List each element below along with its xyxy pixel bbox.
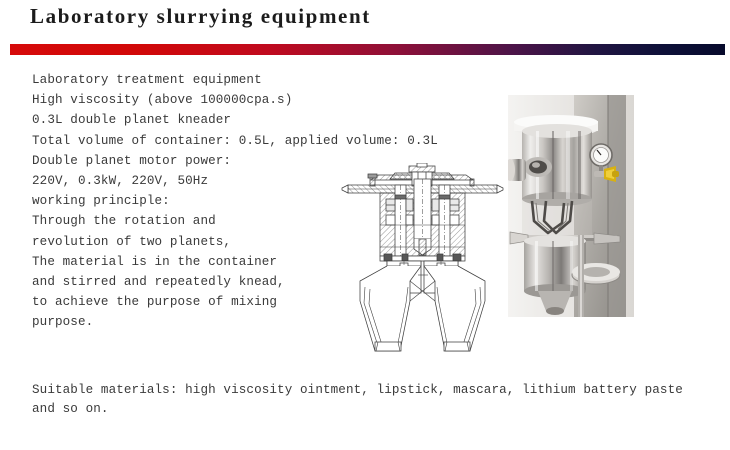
- spec-line: purpose.: [32, 312, 332, 332]
- product-photo: [508, 95, 634, 317]
- spec-line: to achieve the purpose of mixing: [32, 292, 332, 312]
- spec-line: working principle:: [32, 191, 332, 211]
- footer-line: Suitable materials: high viscosity ointm…: [32, 381, 702, 400]
- specification-text-block: Laboratory treatment equipment High visc…: [32, 70, 332, 333]
- spec-line: High viscosity (above 100000cpa.s): [32, 90, 332, 110]
- spec-line: 0.3L double planet kneader: [32, 110, 332, 130]
- slide-page: Laboratory slurrying equipment Laborator…: [0, 0, 730, 450]
- spec-line: and stirred and repeatedly knead,: [32, 272, 332, 292]
- slurrying-machine-photo-illustration: [508, 95, 634, 317]
- spec-line: 220V, 0.3kW, 220V, 50Hz: [32, 171, 332, 191]
- gradient-divider: [10, 44, 725, 55]
- spec-line: revolution of two planets,: [32, 232, 332, 252]
- double-planetary-kneader-drawing-icon: [340, 163, 505, 368]
- page-title: Laboratory slurrying equipment: [30, 4, 371, 29]
- spec-line: The material is in the container: [32, 252, 332, 272]
- suitable-materials-text-block: Suitable materials: high viscosity ointm…: [32, 381, 702, 419]
- spec-line: Through the rotation and: [32, 211, 332, 231]
- spec-line: Laboratory treatment equipment: [32, 70, 332, 90]
- technical-drawing-figure: [340, 163, 505, 368]
- spec-line: Total volume of container: 0.5L, applied…: [32, 131, 332, 151]
- spec-line: Double planet motor power:: [32, 151, 332, 171]
- footer-line: and so on.: [32, 400, 702, 419]
